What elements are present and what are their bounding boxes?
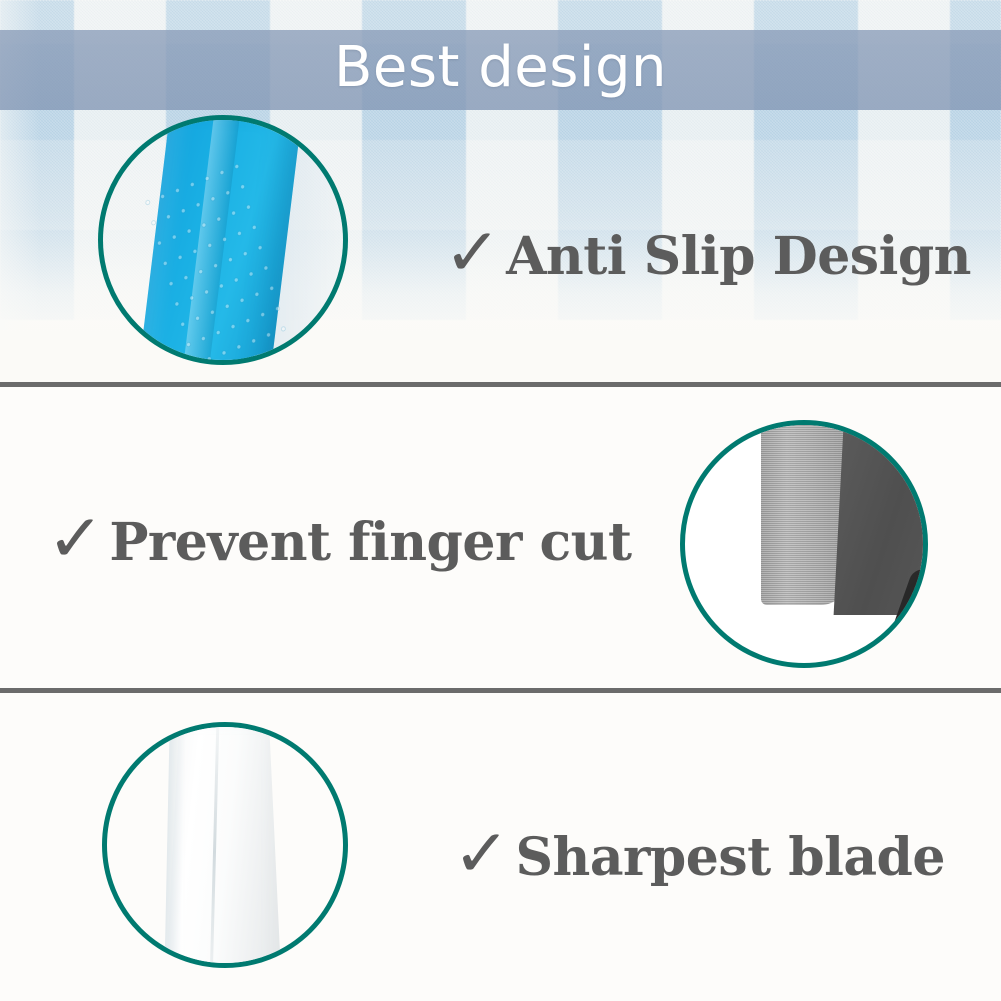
page-title: Best design bbox=[334, 40, 667, 96]
feature-label-text: Prevent finger cut bbox=[109, 517, 631, 569]
header-banner: Best design bbox=[0, 30, 1001, 110]
product-feature-infographic: Best design ✓ Anti Slip Design ✓ Prevent… bbox=[0, 0, 1001, 1001]
feature-label-text: Sharpest blade bbox=[515, 832, 945, 884]
feature-label-text: Anti Slip Design bbox=[506, 231, 971, 283]
feature-label-prevent-finger-cut: ✓ Prevent finger cut bbox=[48, 510, 631, 576]
checkmark-icon: ✓ bbox=[47, 506, 105, 572]
checkmark-icon: ✓ bbox=[443, 220, 501, 286]
checkmark-icon: ✓ bbox=[453, 821, 511, 887]
blue-handle-illustration bbox=[103, 120, 343, 360]
gray-blade-shape bbox=[761, 420, 847, 605]
feature-label-sharpest-blade: ✓ Sharpest blade bbox=[454, 825, 945, 891]
feature-label-anti-slip: ✓ Anti Slip Design bbox=[445, 224, 971, 290]
feature-panel-anti-slip: Best design ✓ Anti Slip Design bbox=[0, 0, 1001, 382]
feature-image-circle-sharpest-blade bbox=[102, 722, 348, 968]
feature-image-circle-anti-slip bbox=[98, 115, 348, 365]
feature-image-circle-prevent-finger-cut bbox=[680, 420, 928, 668]
